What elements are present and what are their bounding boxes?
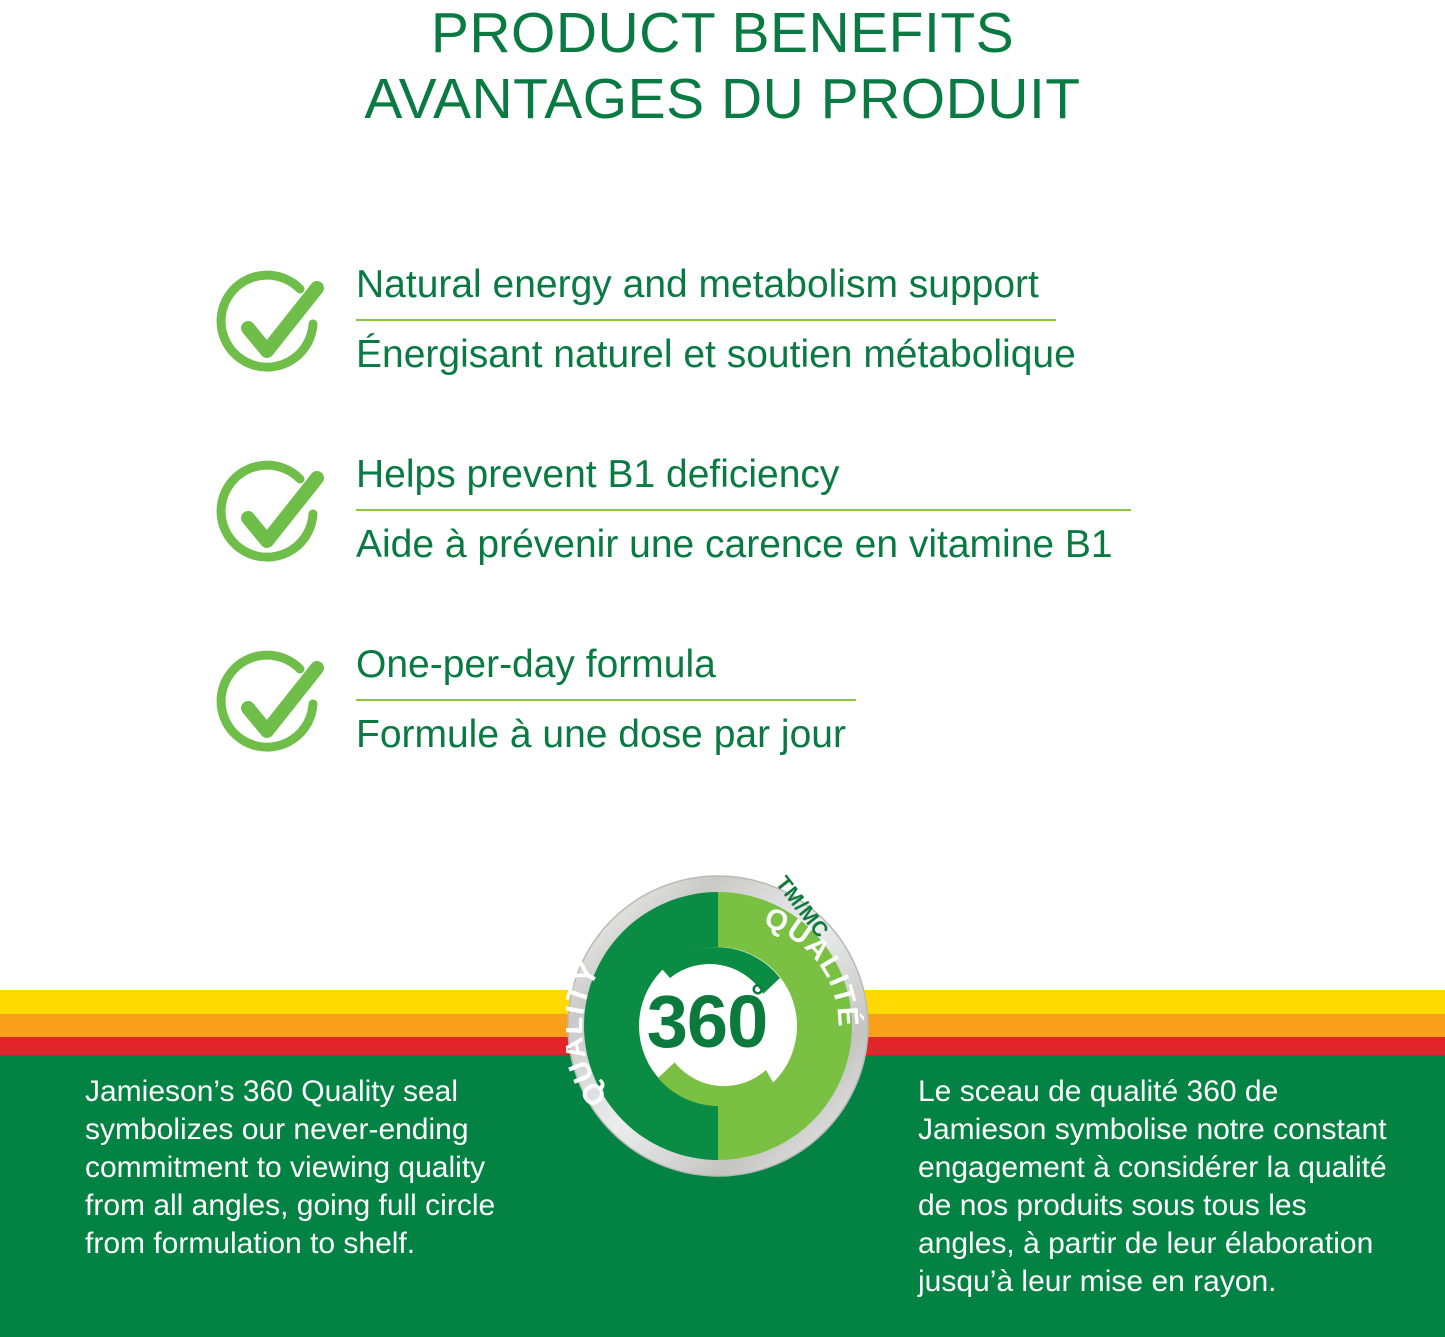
benefits-list: Natural energy and metabolism support Én… xyxy=(0,258,1445,828)
footer-line: symbolizes our never-ending xyxy=(85,1111,555,1149)
benefit-text: One-per-day formula Formule à une dose p… xyxy=(356,638,856,758)
title-french: AVANTAGES DU PRODUIT xyxy=(0,64,1445,130)
benefit-divider xyxy=(356,509,1131,511)
footer-line: angles, à partir de leur élaboration xyxy=(918,1225,1418,1263)
footer-line: de nos produits sous tous les xyxy=(918,1187,1418,1225)
benefit-text-french: Énergisant naturel et soutien métaboliqu… xyxy=(356,330,1056,378)
footer-line: Le sceau de qualité 360 de xyxy=(918,1073,1418,1111)
page-title: PRODUCT BENEFITS AVANTAGES DU PRODUIT xyxy=(0,0,1445,130)
check-circle-icon xyxy=(212,266,328,382)
footer-line: Jamieson symbolise notre constant xyxy=(918,1111,1418,1149)
seal-degree-symbol: ° xyxy=(751,978,765,1016)
product-benefits-panel: PRODUCT BENEFITS AVANTAGES DU PRODUIT Na… xyxy=(0,0,1445,1337)
benefit-text: Natural energy and metabolism support Én… xyxy=(356,258,1056,378)
benefit-item: Natural energy and metabolism support Én… xyxy=(0,258,1445,448)
benefit-divider xyxy=(356,319,1056,321)
title-english: PRODUCT BENEFITS xyxy=(0,0,1445,64)
benefit-item: Helps prevent B1 deficiency Aide à préve… xyxy=(0,448,1445,638)
benefit-text: Helps prevent B1 deficiency Aide à préve… xyxy=(356,448,1131,568)
benefit-text-english: Natural energy and metabolism support xyxy=(356,258,1056,308)
benefit-text-french: Aide à prévenir une carence en vitamine … xyxy=(356,520,1131,568)
benefit-text-english: One-per-day formula xyxy=(356,638,856,688)
footer-line: engagement à considérer la qualité xyxy=(918,1149,1418,1187)
footer-line: commitment to viewing quality xyxy=(85,1149,555,1187)
footer-text-french: Le sceau de qualité 360 de Jamieson symb… xyxy=(918,1073,1418,1301)
footer-line: from formulation to shelf. xyxy=(85,1225,555,1263)
seal-center-number: 360 xyxy=(647,980,767,1063)
check-circle-icon xyxy=(212,646,328,762)
footer-text-english: Jamieson’s 360 Quality seal symbolizes o… xyxy=(85,1073,555,1263)
benefit-item: One-per-day formula Formule à une dose p… xyxy=(0,638,1445,828)
check-circle-icon xyxy=(212,456,328,572)
benefit-text-french: Formule à une dose par jour xyxy=(356,710,856,758)
footer-line: Jamieson’s 360 Quality seal xyxy=(85,1073,555,1111)
benefit-divider xyxy=(356,699,856,701)
footer-line: from all angles, going full circle xyxy=(85,1187,555,1225)
benefit-text-english: Helps prevent B1 deficiency xyxy=(356,448,1131,498)
footer-line: jusqu’à leur mise en rayon. xyxy=(918,1263,1418,1301)
